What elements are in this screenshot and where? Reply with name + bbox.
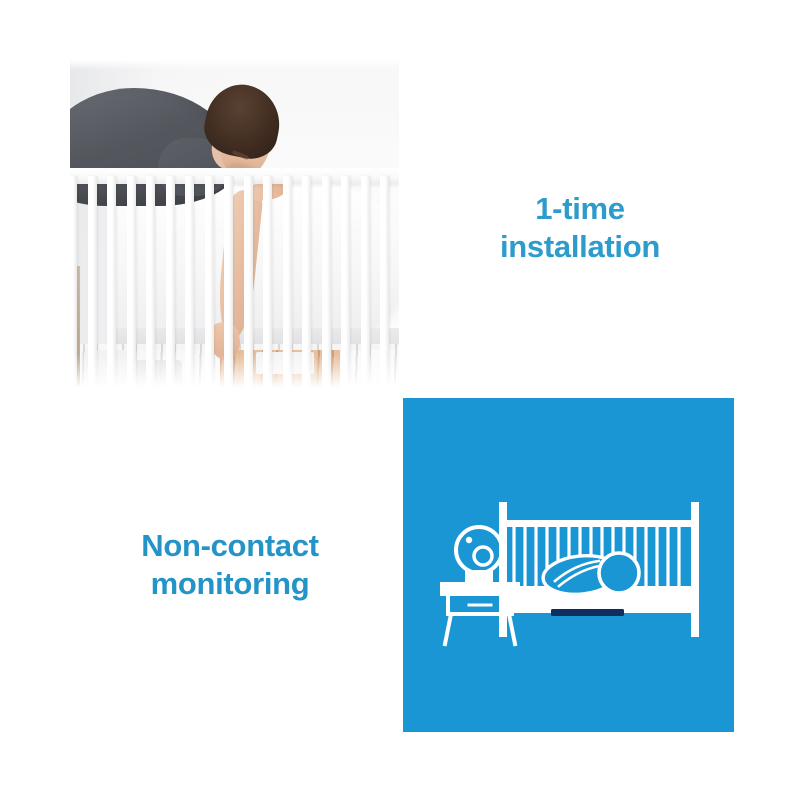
page-root: 1-time installation Non-contact monitori… — [0, 0, 800, 800]
sensor-bar — [551, 609, 624, 616]
baby-head — [599, 553, 639, 593]
camera-indicator-dot — [466, 537, 472, 543]
monitoring-illustration — [403, 398, 734, 732]
installation-photo — [70, 60, 399, 396]
feature-headline-one-time-installation: 1-time installation — [430, 190, 730, 266]
feature-headline-non-contact-monitoring: Non-contact monitoring — [80, 527, 380, 603]
photo-fade-bottom — [70, 354, 399, 396]
monitoring-illustration-svg — [403, 398, 734, 732]
photo-fade-top — [70, 60, 399, 70]
